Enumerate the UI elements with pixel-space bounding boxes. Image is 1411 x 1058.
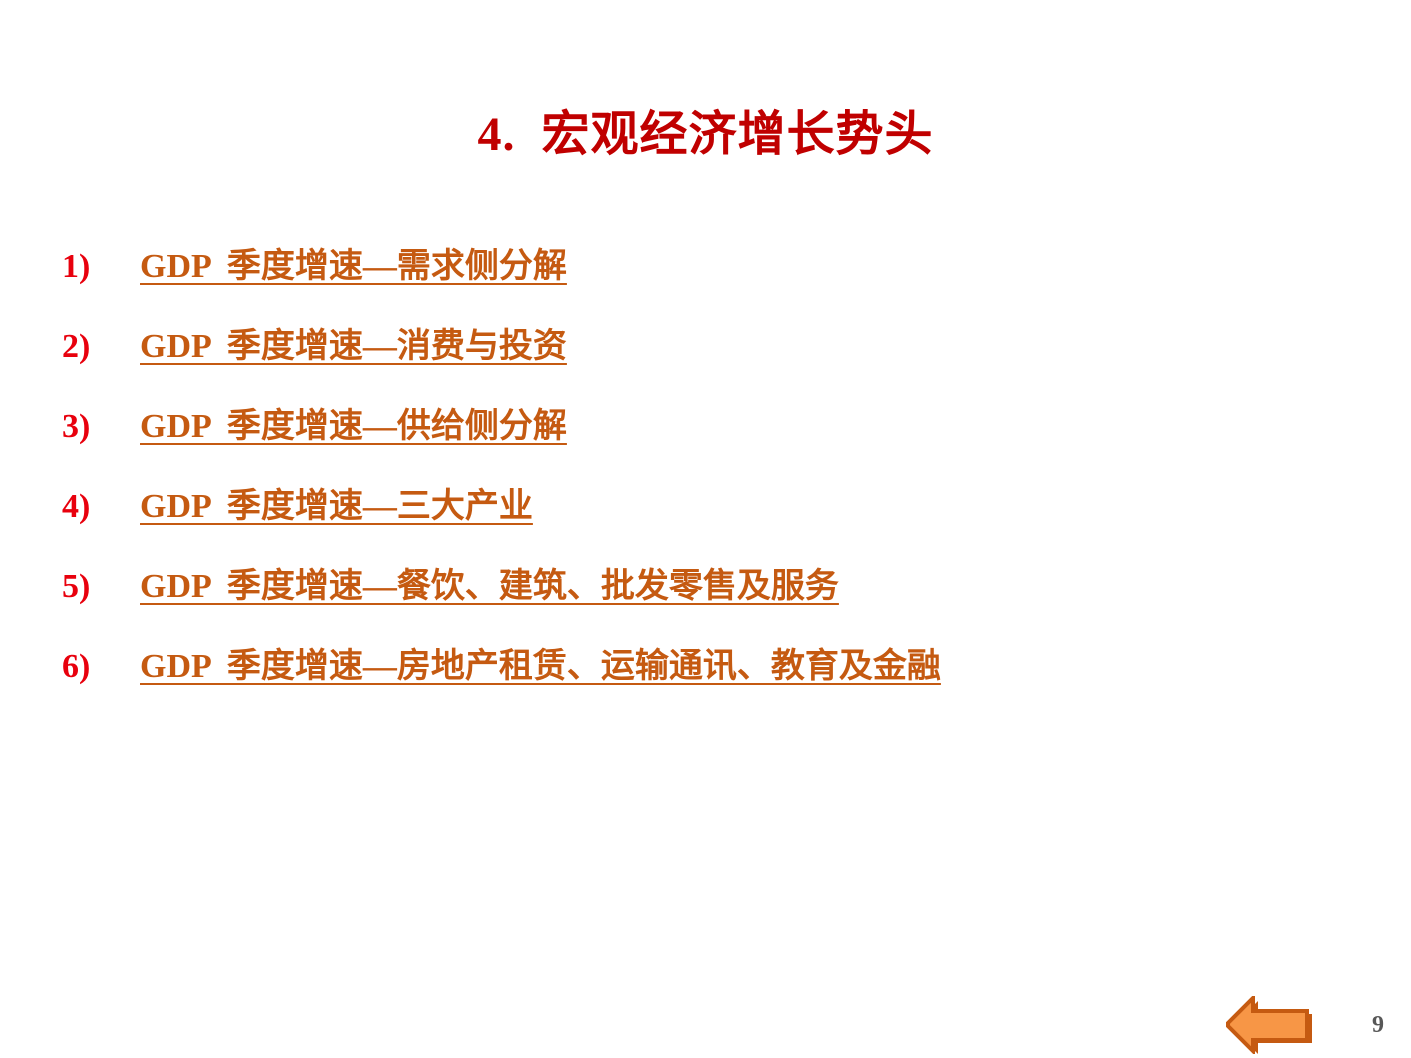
- arrow-left-icon[interactable]: [1224, 996, 1316, 1054]
- page-title: 4. 宏观经济增长势头: [0, 108, 1411, 162]
- list-item-marker: 3): [62, 410, 140, 444]
- agenda-link-realestate-transport-education-finance[interactable]: GDP 季度增速—房地产租赁、运输通讯、教育及金融: [140, 650, 941, 684]
- page-number: 9: [1372, 1013, 1384, 1037]
- agenda-list: 1) GDP 季度增速—需求侧分解 2) GDP 季度增速—消费与投资 3) G…: [62, 250, 1352, 730]
- list-item[interactable]: 5) GDP 季度增速—餐饮、建筑、批发零售及服务: [62, 570, 1352, 650]
- list-item[interactable]: 3) GDP 季度增速—供给侧分解: [62, 410, 1352, 490]
- agenda-link-demand-side[interactable]: GDP 季度增速—需求侧分解: [140, 250, 567, 284]
- list-item[interactable]: 6) GDP 季度增速—房地产租赁、运输通讯、教育及金融: [62, 650, 1352, 730]
- list-item-marker: 4): [62, 490, 140, 524]
- list-item-marker: 5): [62, 570, 140, 604]
- list-item[interactable]: 1) GDP 季度增速—需求侧分解: [62, 250, 1352, 330]
- agenda-link-catering-construction-retail[interactable]: GDP 季度增速—餐饮、建筑、批发零售及服务: [140, 570, 839, 604]
- list-item[interactable]: 4) GDP 季度增速—三大产业: [62, 490, 1352, 570]
- list-item-marker: 6): [62, 650, 140, 684]
- list-item-marker: 1): [62, 250, 140, 284]
- agenda-link-three-industries[interactable]: GDP 季度增速—三大产业: [140, 490, 533, 524]
- list-item-marker: 2): [62, 330, 140, 364]
- list-item[interactable]: 2) GDP 季度增速—消费与投资: [62, 330, 1352, 410]
- agenda-link-supply-side[interactable]: GDP 季度增速—供给侧分解: [140, 410, 567, 444]
- slide-canvas: 4. 宏观经济增长势头 1) GDP 季度增速—需求侧分解 2) GDP 季度增…: [0, 0, 1411, 1058]
- agenda-link-consumption-investment[interactable]: GDP 季度增速—消费与投资: [140, 330, 567, 364]
